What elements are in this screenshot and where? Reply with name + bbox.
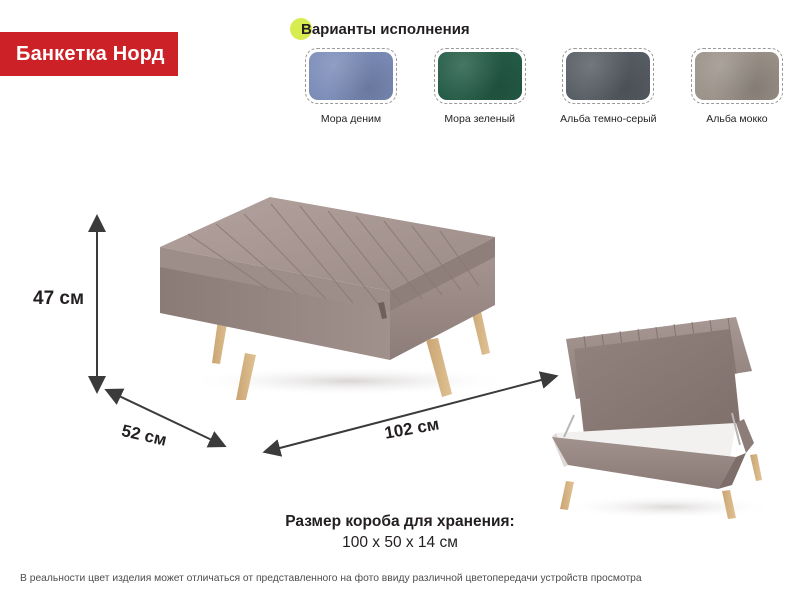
product-image-bench-open: [540, 295, 795, 525]
swatch-label: Мора деним: [321, 113, 381, 125]
swatch-frame: [691, 48, 783, 104]
swatch-label: Альба темно-серый: [560, 113, 656, 125]
product-image-bench-closed: [150, 185, 540, 400]
product-title-banner: Банкетка Норд: [0, 32, 178, 76]
color-disclaimer: В реальности цвет изделия может отличать…: [20, 572, 769, 584]
swatch-frame: [305, 48, 397, 104]
product-title: Банкетка Норд: [16, 43, 165, 66]
fabric-swatch-list: Мора деним Мора зеленый Альба темно-серы…: [296, 48, 792, 125]
fabric-swatch-mocco[interactable]: Альба мокко: [682, 48, 792, 125]
width-dimension-label: 102 см: [383, 414, 441, 443]
swatch-frame: [562, 48, 654, 104]
storage-size-caption: Размер короба для хранения: 100 x 50 x 1…: [0, 512, 800, 554]
swatch-frame: [434, 48, 526, 104]
storage-size-title: Размер короба для хранения:: [0, 512, 800, 533]
height-dimension-label: 47 см: [33, 288, 84, 310]
storage-size-value: 100 x 50 x 14 см: [0, 533, 800, 554]
swatch-label: Мора зеленый: [444, 113, 515, 125]
swatch-color-chip: [309, 52, 393, 100]
variants-heading-label: Варианты исполнения: [290, 21, 470, 38]
fabric-swatch-green[interactable]: Мора зеленый: [425, 48, 535, 125]
swatch-color-chip: [695, 52, 779, 100]
variants-heading: Варианты исполнения: [290, 16, 470, 42]
swatch-color-chip: [566, 52, 650, 100]
swatch-color-chip: [438, 52, 522, 100]
swatch-label: Альба мокко: [706, 113, 767, 125]
depth-dimension-label: 52 см: [120, 421, 169, 451]
fabric-swatch-denim[interactable]: Мора деним: [296, 48, 406, 125]
fabric-swatch-dark-gray[interactable]: Альба темно-серый: [553, 48, 663, 125]
